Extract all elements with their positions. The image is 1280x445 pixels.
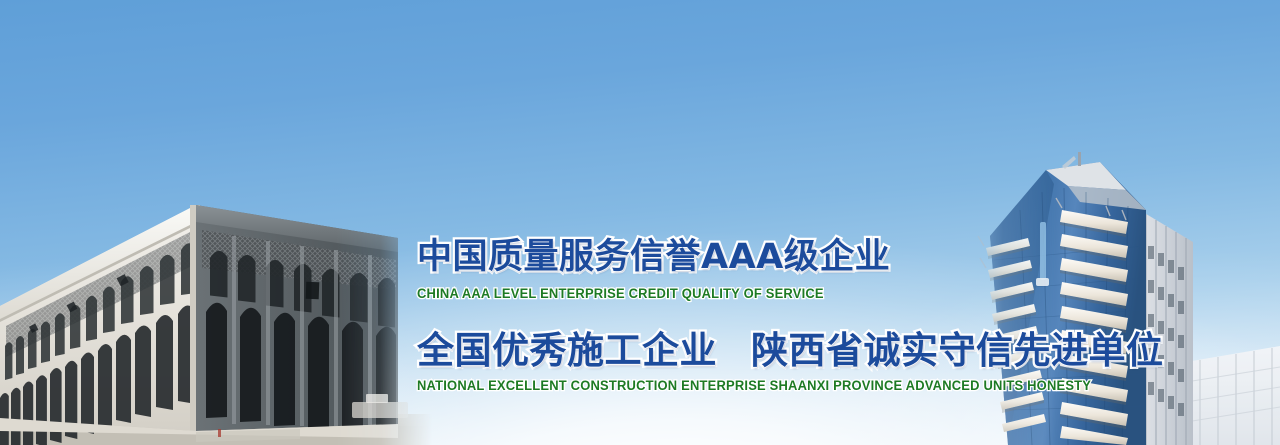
headline-aaa-enterprise: 中国质量服务信誉AAA级企业 xyxy=(417,240,1017,275)
award-row-2: 全国优秀施工企业陕西省诚实守信先进单位 NATIONAL EXCELLENT C… xyxy=(417,332,1017,393)
headline-construction-honesty: 全国优秀施工企业陕西省诚实守信先进单位 xyxy=(417,332,1017,369)
promo-banner: 中国质量服务信誉AAA级企业 CHINA AAA LEVEL ENTERPRIS… xyxy=(0,0,1280,445)
left-building-photo xyxy=(0,186,432,445)
headline-part-national-excellent: 全国优秀施工企业 xyxy=(417,329,717,372)
subline-construction-honesty: NATIONAL EXCELLENT CONSTRUCTION ENTERPRI… xyxy=(417,378,993,393)
award-row-1: 中国质量服务信誉AAA级企业 CHINA AAA LEVEL ENTERPRIS… xyxy=(417,240,1017,301)
banner-copy: 中国质量服务信誉AAA级企业 CHINA AAA LEVEL ENTERPRIS… xyxy=(417,240,1017,393)
subline-aaa-enterprise: CHINA AAA LEVEL ENTERPRISE CREDIT QUALIT… xyxy=(417,286,993,301)
headline-part-shaanxi-honesty: 陕西省诚实守信先进单位 xyxy=(751,329,1164,372)
